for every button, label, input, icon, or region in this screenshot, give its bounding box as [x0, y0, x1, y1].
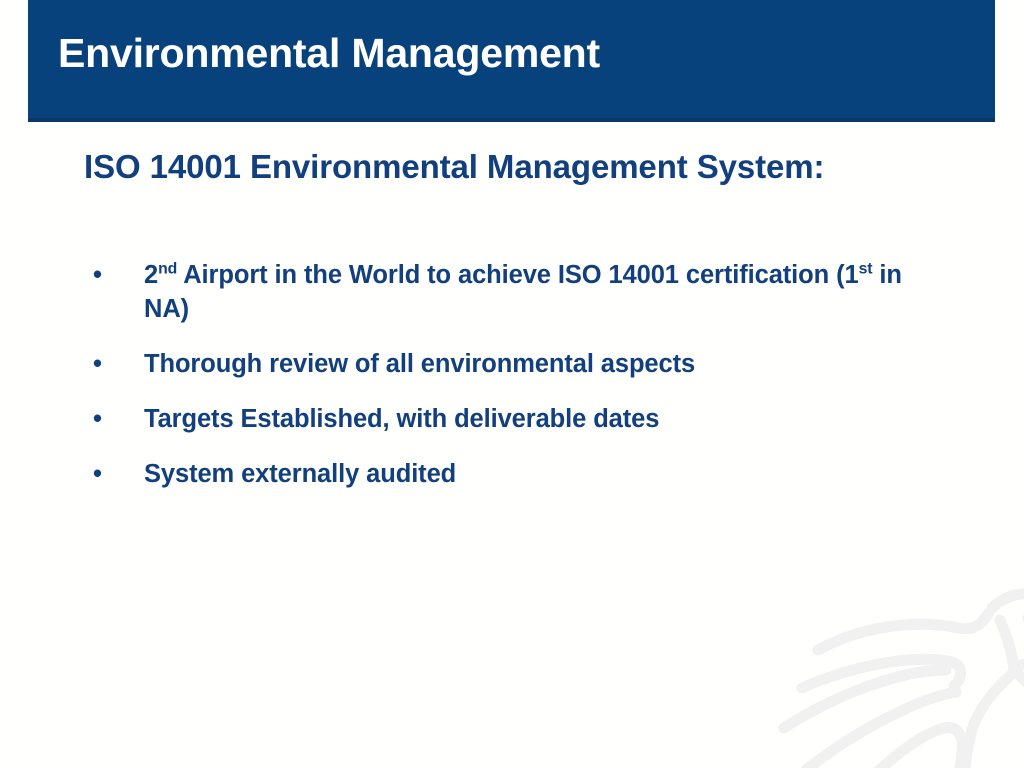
list-item-text: 2nd Airport in the World to achieve ISO … [144, 261, 902, 323]
bullet-dot-icon: • [93, 458, 102, 492]
bullet-dot-icon: • [93, 259, 102, 293]
page-title: Environmental Management [58, 33, 600, 74]
bullet-dot-icon: • [93, 403, 102, 437]
slide-body: ISO 14001 Environmental Management Syste… [0, 122, 1024, 768]
subheading: ISO 14001 Environmental Management Syste… [84, 145, 874, 189]
list-item-text: Thorough review of all environmental asp… [144, 350, 695, 378]
list-item: • Targets Established, with deliverable … [84, 403, 914, 437]
list-item: • System externally audited [84, 458, 914, 492]
bullet-list: • 2nd Airport in the World to achieve IS… [84, 259, 914, 492]
list-item-text: System externally audited [144, 460, 456, 488]
list-item-text: Targets Established, with deliverable da… [144, 405, 659, 433]
bullet-dot-icon: • [93, 348, 102, 382]
slide-canvas: Environmental Management ISO 14001 Envir… [0, 0, 1024, 768]
list-item: • Thorough review of all environmental a… [84, 348, 914, 382]
list-item: • 2nd Airport in the World to achieve IS… [84, 259, 914, 327]
slide-title-bar: Environmental Management [28, 0, 995, 122]
